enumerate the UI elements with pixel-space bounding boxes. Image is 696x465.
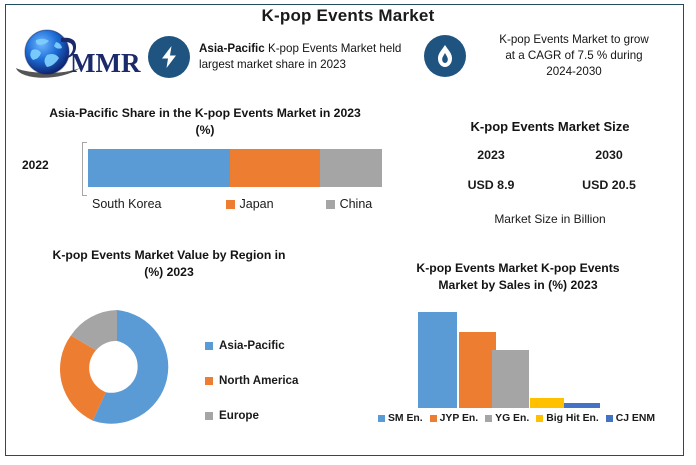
callout-cagr: K-pop Events Market to grow at a CAGR of… [424,32,674,80]
column-chart-legend: SM En. JYP En. YG En. Big Hit En. CJ ENM [355,413,685,424]
legend-item-south-korea[interactable]: South Korea [92,197,162,211]
mmr-logo: MMR [14,28,142,80]
legend-item-jyp-en[interactable]: JYP En. [430,413,479,424]
legend-swatch-cj-enm [606,415,613,422]
market-size-value-2023: USD 8.9 [432,178,550,192]
legend-swatch-north-america [205,377,213,385]
column-title-line1: K-pop Events Market K-pop Events [358,260,678,277]
legend-label-north-america: North America [219,374,298,387]
market-size-note: Market Size in Billion [420,212,680,226]
stacked-bar-category-label: 2022 [22,158,49,172]
stacked-bar-chart-title: Asia-Pacific Share in the K-pop Events M… [30,105,380,139]
market-size-year-2030: 2030 [550,148,668,162]
legend-swatch-europe [205,412,213,420]
market-size-years: 2023 2030 [420,148,680,162]
legend-item-sm-en[interactable]: SM En. [378,413,423,424]
stacked-bar-track [88,149,382,187]
legend-swatch-china [326,200,335,209]
legend-item-china[interactable]: China [326,197,373,211]
legend-swatch-yg-en [485,415,492,422]
callout-asia-pacific-text: Asia-Pacific K-pop Events Market held la… [199,41,413,73]
stacked-bar-title-line2: (%) [30,122,380,139]
legend-swatch-big-hit-en [536,415,543,422]
stacked-bar-segment-south-korea[interactable] [88,149,230,187]
market-size-values: USD 8.9 USD 20.5 [420,178,680,192]
legend-label-europe: Europe [219,409,259,422]
legend-label-south-korea: South Korea [92,197,162,211]
stacked-bar-segment-china[interactable] [320,149,382,187]
callout-cagr-line1: K-pop Events Market to grow [476,32,672,48]
legend-item-asia-pacific[interactable]: Asia-Pacific [205,328,345,363]
stacked-bar-segment-japan[interactable] [230,149,320,187]
column-bar-sm-en[interactable] [418,312,457,408]
legend-label-japan: Japan [240,197,274,211]
lightning-bolt-badge [148,36,190,78]
legend-label-big-hit-en: Big Hit En. [546,413,599,424]
column-bar-big-hit-en[interactable] [530,398,564,408]
donut-chart-title: K-pop Events Market Value by Region in (… [14,247,324,281]
market-size-value-2030: USD 20.5 [550,178,668,192]
legend-item-yg-en[interactable]: YG En. [485,413,529,424]
stacked-bar-axis [82,142,87,196]
market-size-year-2023: 2023 [432,148,550,162]
donut-title-line2: (%) 2023 [14,264,324,281]
legend-item-europe[interactable]: Europe [205,398,345,433]
legend-swatch-sm-en [378,415,385,422]
flame-badge [424,35,466,77]
column-title-line2: Market by Sales in (%) 2023 [358,277,678,294]
legend-item-big-hit-en[interactable]: Big Hit En. [536,413,599,424]
lightning-bolt-icon [159,45,179,69]
legend-label-asia-pacific: Asia-Pacific [219,339,285,352]
column-chart [400,300,620,408]
legend-swatch-asia-pacific [205,342,213,350]
market-size-title: K-pop Events Market Size [420,118,680,135]
legend-item-cj-enm[interactable]: CJ ENM [606,413,655,424]
legend-item-north-america[interactable]: North America [205,363,345,398]
logo-text: MMR [70,48,141,78]
callout-cagr-text: K-pop Events Market to grow at a CAGR of… [476,32,672,80]
stacked-bar-chart: 2022 [22,142,372,194]
legend-label-yg-en: YG En. [495,413,529,424]
legend-label-cj-enm: CJ ENM [616,413,655,424]
legend-swatch-japan [226,200,235,209]
legend-item-japan[interactable]: Japan [226,197,274,211]
globe-logo-icon: MMR [14,28,142,80]
column-chart-title: K-pop Events Market K-pop Events Market … [358,260,678,294]
column-bar-jyp-en[interactable] [459,332,496,408]
donut-title-line1: K-pop Events Market Value by Region in [14,247,324,264]
flame-icon [436,44,454,68]
page-title: K-pop Events Market [0,6,696,26]
donut-chart [58,308,176,426]
legend-label-sm-en: SM En. [388,413,423,424]
stacked-bar-legend: South Korea Japan China [30,197,380,211]
callout-cagr-line2: at a CAGR of 7.5 % during [476,48,672,64]
legend-label-china: China [340,197,373,211]
column-bar-yg-en[interactable] [492,350,529,408]
stacked-bar-title-line1: Asia-Pacific Share in the K-pop Events M… [30,105,380,122]
callout-asia-pacific: Asia-Pacific K-pop Events Market held la… [148,36,413,78]
legend-swatch-jyp-en [430,415,437,422]
legend-label-jyp-en: JYP En. [440,413,479,424]
callout-cagr-line3: 2024-2030 [476,64,672,80]
callout-asia-pacific-bold: Asia-Pacific [199,42,265,55]
donut-chart-legend: Asia-Pacific North America Europe [205,328,345,433]
column-bar-cj-enm[interactable] [564,403,600,408]
